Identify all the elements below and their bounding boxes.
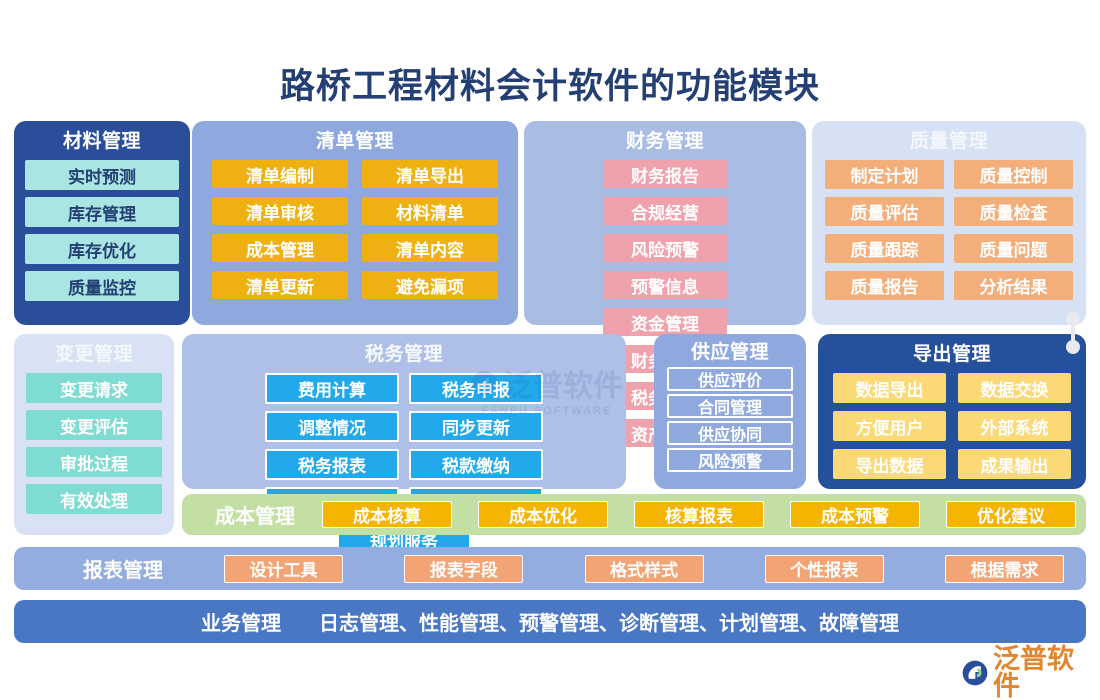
list-item[interactable]: 质量报告 bbox=[825, 271, 944, 300]
list-item[interactable]: 质量评估 bbox=[825, 197, 944, 226]
list-item[interactable]: 清单导出 bbox=[362, 160, 498, 188]
list-item[interactable]: 库存管理 bbox=[25, 197, 179, 227]
list-item[interactable]: 费用计算 bbox=[265, 373, 399, 404]
list-item[interactable]: 合同管理 bbox=[667, 394, 793, 418]
module-title-cost: 成本管理 bbox=[192, 500, 318, 529]
list-item[interactable]: 材料清单 bbox=[362, 197, 498, 225]
list-item[interactable]: 同步更新 bbox=[409, 411, 543, 442]
list-item[interactable]: 成本优化 bbox=[478, 501, 608, 528]
list-item[interactable]: 库存优化 bbox=[25, 234, 179, 264]
module-items-cost: 成本核算 成本优化 核算报表 成本预警 优化建议 bbox=[318, 501, 1076, 528]
list-item[interactable]: 实时预测 bbox=[25, 160, 179, 190]
list-item[interactable]: 税款缴纳 bbox=[409, 449, 543, 480]
list-item[interactable]: 风险预警 bbox=[667, 448, 793, 472]
module-items-report: 设计工具 报表字段 格式样式 个性报表 根据需求 bbox=[218, 555, 1072, 583]
module-card-list[interactable]: 清单管理 清单编制 清单导出 清单审核 材料清单 成本管理 清单内容 清单更新 … bbox=[192, 121, 518, 325]
module-card-quality[interactable]: 质量管理 制定计划 质量控制 质量评估 质量检查 质量跟踪 质量问题 质量报告 … bbox=[812, 121, 1086, 325]
module-title-supply: 供应管理 bbox=[654, 334, 806, 367]
list-item[interactable]: 质量监控 bbox=[25, 271, 179, 301]
list-item[interactable]: 税务申报 bbox=[409, 373, 543, 404]
brand-row: 泛普软件 bbox=[962, 646, 1094, 700]
module-title-export: 导出管理 bbox=[818, 334, 1086, 373]
brand-name: 泛普软件 bbox=[993, 646, 1094, 700]
module-bar-cost[interactable]: 成本管理 成本核算 成本优化 核算报表 成本预警 优化建议 bbox=[182, 494, 1086, 535]
list-item[interactable]: 清单更新 bbox=[212, 271, 348, 299]
module-title-business: 业务管理 bbox=[201, 607, 281, 636]
module-card-change[interactable]: 变更管理 变更请求 变更评估 审批过程 有效处理 bbox=[14, 334, 174, 535]
connector-decoration-icon bbox=[1064, 312, 1082, 356]
list-item[interactable]: 质量检查 bbox=[954, 197, 1073, 226]
list-item[interactable]: 避免漏项 bbox=[362, 271, 498, 299]
list-item[interactable]: 报表字段 bbox=[404, 555, 523, 583]
list-item[interactable]: 风险预警 bbox=[603, 234, 727, 262]
list-item[interactable]: 质量跟踪 bbox=[825, 234, 944, 263]
module-title-material: 材料管理 bbox=[14, 121, 190, 160]
module-card-material[interactable]: 材料管理 实时预测 库存管理 库存优化 质量监控 bbox=[14, 121, 190, 325]
list-item[interactable]: 清单内容 bbox=[362, 234, 498, 262]
list-item[interactable]: 核算报表 bbox=[634, 501, 764, 528]
infographic-canvas: 路桥工程材料会计软件的功能模块 材料管理 实时预测 库存管理 库存优化 质量监控… bbox=[0, 0, 1100, 700]
module-items-quality: 制定计划 质量控制 质量评估 质量检查 质量跟踪 质量问题 质量报告 分析结果 bbox=[812, 160, 1086, 300]
list-item[interactable]: 设计工具 bbox=[224, 555, 343, 583]
list-item[interactable]: 数据导出 bbox=[833, 373, 946, 403]
list-item[interactable]: 格式样式 bbox=[585, 555, 704, 583]
module-items-business: 日志管理、性能管理、预警管理、诊断管理、计划管理、故障管理 bbox=[319, 607, 899, 636]
fanpu-mark-icon bbox=[962, 660, 988, 686]
list-item[interactable]: 根据需求 bbox=[945, 555, 1064, 583]
list-item[interactable]: 成本预警 bbox=[790, 501, 920, 528]
list-item[interactable]: 供应协同 bbox=[667, 421, 793, 445]
list-item[interactable]: 税务报表 bbox=[265, 449, 399, 480]
module-title-list: 清单管理 bbox=[192, 121, 518, 160]
list-item[interactable]: 财务报告 bbox=[603, 160, 727, 188]
list-item[interactable]: 导出数据 bbox=[833, 449, 946, 479]
module-title-quality: 质量管理 bbox=[812, 121, 1086, 160]
module-bar-report[interactable]: 报表管理 设计工具 报表字段 格式样式 个性报表 根据需求 bbox=[14, 547, 1086, 590]
list-item[interactable]: 分析结果 bbox=[954, 271, 1073, 300]
module-items-list: 清单编制 清单导出 清单审核 材料清单 成本管理 清单内容 清单更新 避免漏项 bbox=[192, 160, 518, 299]
module-title-tax: 税务管理 bbox=[182, 334, 626, 373]
module-title-report: 报表管理 bbox=[28, 554, 218, 583]
brand-logo[interactable]: 泛普软件 www.fanpusoft.com bbox=[962, 646, 1094, 694]
list-item[interactable]: 外部系统 bbox=[958, 411, 1071, 441]
list-item[interactable]: 审批过程 bbox=[26, 447, 162, 477]
list-item[interactable]: 方便用户 bbox=[833, 411, 946, 441]
list-item[interactable]: 质量问题 bbox=[954, 234, 1073, 263]
module-card-export[interactable]: 导出管理 数据导出 数据交换 方便用户 外部系统 导出数据 成果输出 bbox=[818, 334, 1086, 489]
module-items-material: 实时预测 库存管理 库存优化 质量监控 bbox=[14, 160, 190, 301]
list-item[interactable]: 数据交换 bbox=[958, 373, 1071, 403]
list-item[interactable]: 供应评价 bbox=[667, 367, 793, 391]
module-items-export: 数据导出 数据交换 方便用户 外部系统 导出数据 成果输出 bbox=[818, 373, 1086, 479]
module-items-supply: 供应评价 合同管理 供应协同 风险预警 bbox=[654, 367, 806, 472]
list-item[interactable]: 质量控制 bbox=[954, 160, 1073, 189]
list-item[interactable]: 调整情况 bbox=[265, 411, 399, 442]
list-item[interactable]: 资金管理 bbox=[603, 308, 727, 336]
list-item[interactable]: 成果输出 bbox=[958, 449, 1071, 479]
module-title-finance: 财务管理 bbox=[524, 121, 806, 160]
list-item[interactable]: 变更请求 bbox=[26, 373, 162, 403]
module-bar-business[interactable]: 业务管理 日志管理、性能管理、预警管理、诊断管理、计划管理、故障管理 bbox=[14, 600, 1086, 643]
module-items-change: 变更请求 变更评估 审批过程 有效处理 bbox=[14, 373, 174, 514]
list-item[interactable]: 合规经营 bbox=[603, 197, 727, 225]
list-item[interactable]: 优化建议 bbox=[946, 501, 1076, 528]
module-card-supply[interactable]: 供应管理 供应评价 合同管理 供应协同 风险预警 bbox=[654, 334, 806, 489]
list-item[interactable]: 清单审核 bbox=[212, 197, 348, 225]
module-card-tax[interactable]: 税务管理 费用计算 税务申报 调整情况 同步更新 税务报表 税款缴纳 费用信息 … bbox=[182, 334, 626, 489]
list-item[interactable]: 变更评估 bbox=[26, 410, 162, 440]
page-title: 路桥工程材料会计软件的功能模块 bbox=[0, 58, 1100, 109]
list-item[interactable]: 成本管理 bbox=[212, 234, 348, 262]
connector-dot-bottom-icon bbox=[1066, 340, 1080, 354]
list-item[interactable]: 清单编制 bbox=[212, 160, 348, 188]
list-item[interactable]: 有效处理 bbox=[26, 484, 162, 514]
list-item[interactable]: 制定计划 bbox=[825, 160, 944, 189]
module-card-finance[interactable]: 财务管理 财务报告 合规经营 风险预警 预警信息 资金管理 财务状况 税务管理 … bbox=[524, 121, 806, 325]
list-item[interactable]: 个性报表 bbox=[765, 555, 884, 583]
list-item[interactable]: 预警信息 bbox=[603, 271, 727, 299]
module-title-change: 变更管理 bbox=[14, 334, 174, 373]
list-item[interactable]: 成本核算 bbox=[322, 501, 452, 528]
